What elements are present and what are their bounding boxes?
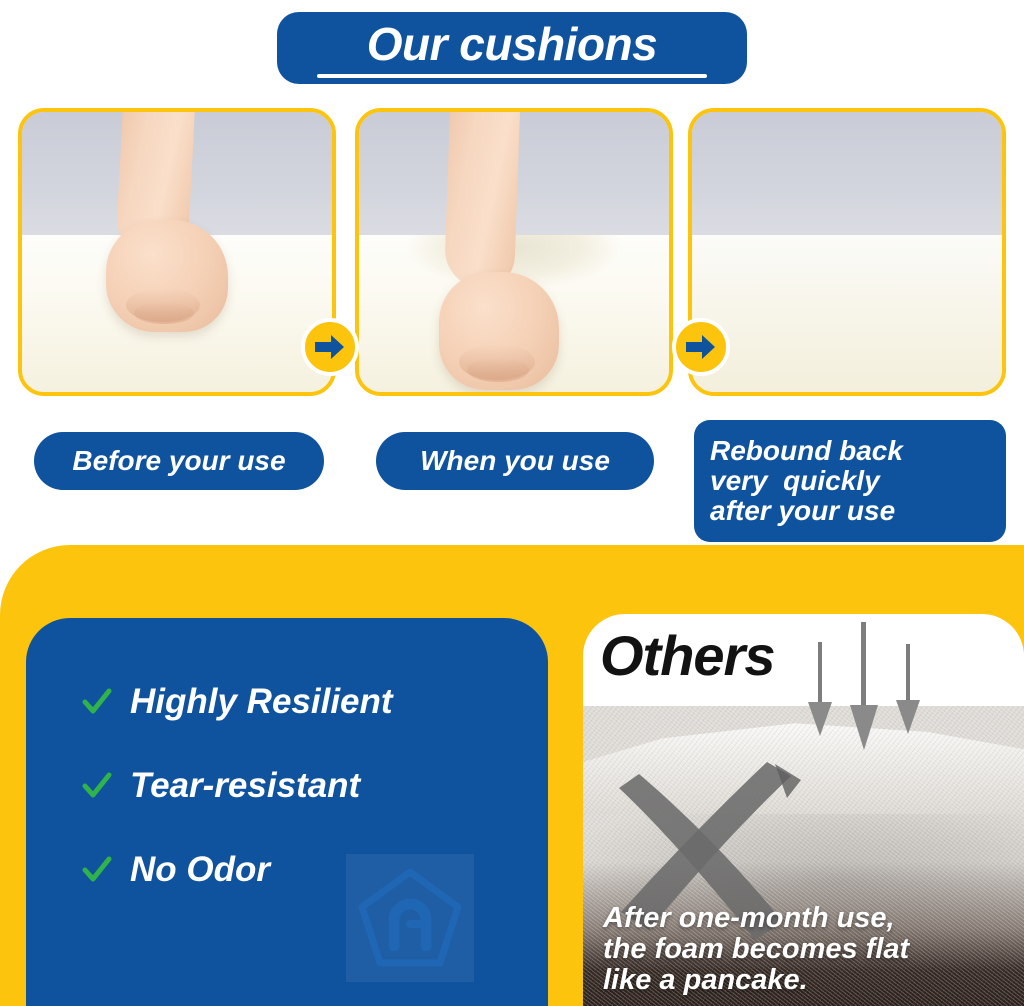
caption-when: When you use [376, 432, 654, 490]
others-caption: After one-month use, the foam becomes fl… [603, 903, 1013, 996]
arrow-down-icon [895, 644, 921, 744]
photo-foam-surface-flat [692, 235, 1002, 392]
infographic-page: Our cushions [0, 0, 1024, 1006]
caption-rebound-line-3: after your use [710, 496, 895, 526]
check-icon [82, 687, 112, 717]
others-caption-line-3: like a pancake. [603, 965, 1013, 996]
others-caption-line-2: the foam becomes flat [603, 934, 1013, 965]
step-photo-when [355, 108, 673, 396]
title-underline [317, 74, 707, 78]
step-arrow-badge-1 [301, 318, 359, 376]
check-icon [82, 855, 112, 885]
others-title: Others [600, 628, 775, 684]
caption-when-label: When you use [420, 445, 610, 477]
caption-before: Before your use [34, 432, 324, 490]
caption-rebound: Rebound back very quickly after your use [694, 420, 1006, 542]
step-arrow-badge-2 [672, 318, 730, 376]
page-title: Our cushions [367, 21, 657, 67]
page-title-banner: Our cushions [277, 12, 747, 84]
photo-knuckle-shadow [134, 302, 194, 324]
step-photo-before [18, 108, 336, 396]
caption-rebound-line-2: very quickly [710, 466, 880, 496]
feature-item: Tear-resistant [82, 744, 522, 828]
pentagon-house-logo-icon [356, 864, 464, 972]
brand-watermark [346, 854, 474, 982]
caption-rebound-line-1: Rebound back [710, 436, 903, 466]
step-photo-rebound [688, 108, 1006, 396]
arrow-right-icon [686, 334, 716, 360]
check-icon [82, 771, 112, 801]
step-photo-row [0, 108, 1024, 398]
photo-background-wall [692, 112, 1002, 241]
feature-label: No Odor [130, 850, 270, 890]
arrow-down-icon [807, 642, 833, 742]
others-comparison-card: Others After one-month use, the foam bec… [583, 614, 1024, 1006]
arrow-right-icon [315, 334, 345, 360]
others-caption-line-1: After one-month use, [603, 903, 1013, 934]
caption-before-label: Before your use [72, 445, 285, 477]
feature-label: Tear-resistant [130, 766, 360, 806]
feature-label: Highly Resilient [130, 682, 393, 722]
arrow-down-icon [848, 622, 880, 757]
photo-arm [444, 108, 520, 289]
feature-item: Highly Resilient [82, 660, 522, 744]
features-card: Highly Resilient Tear-resistant No Odor [26, 618, 548, 1006]
photo-knuckle-shadow [467, 358, 529, 382]
